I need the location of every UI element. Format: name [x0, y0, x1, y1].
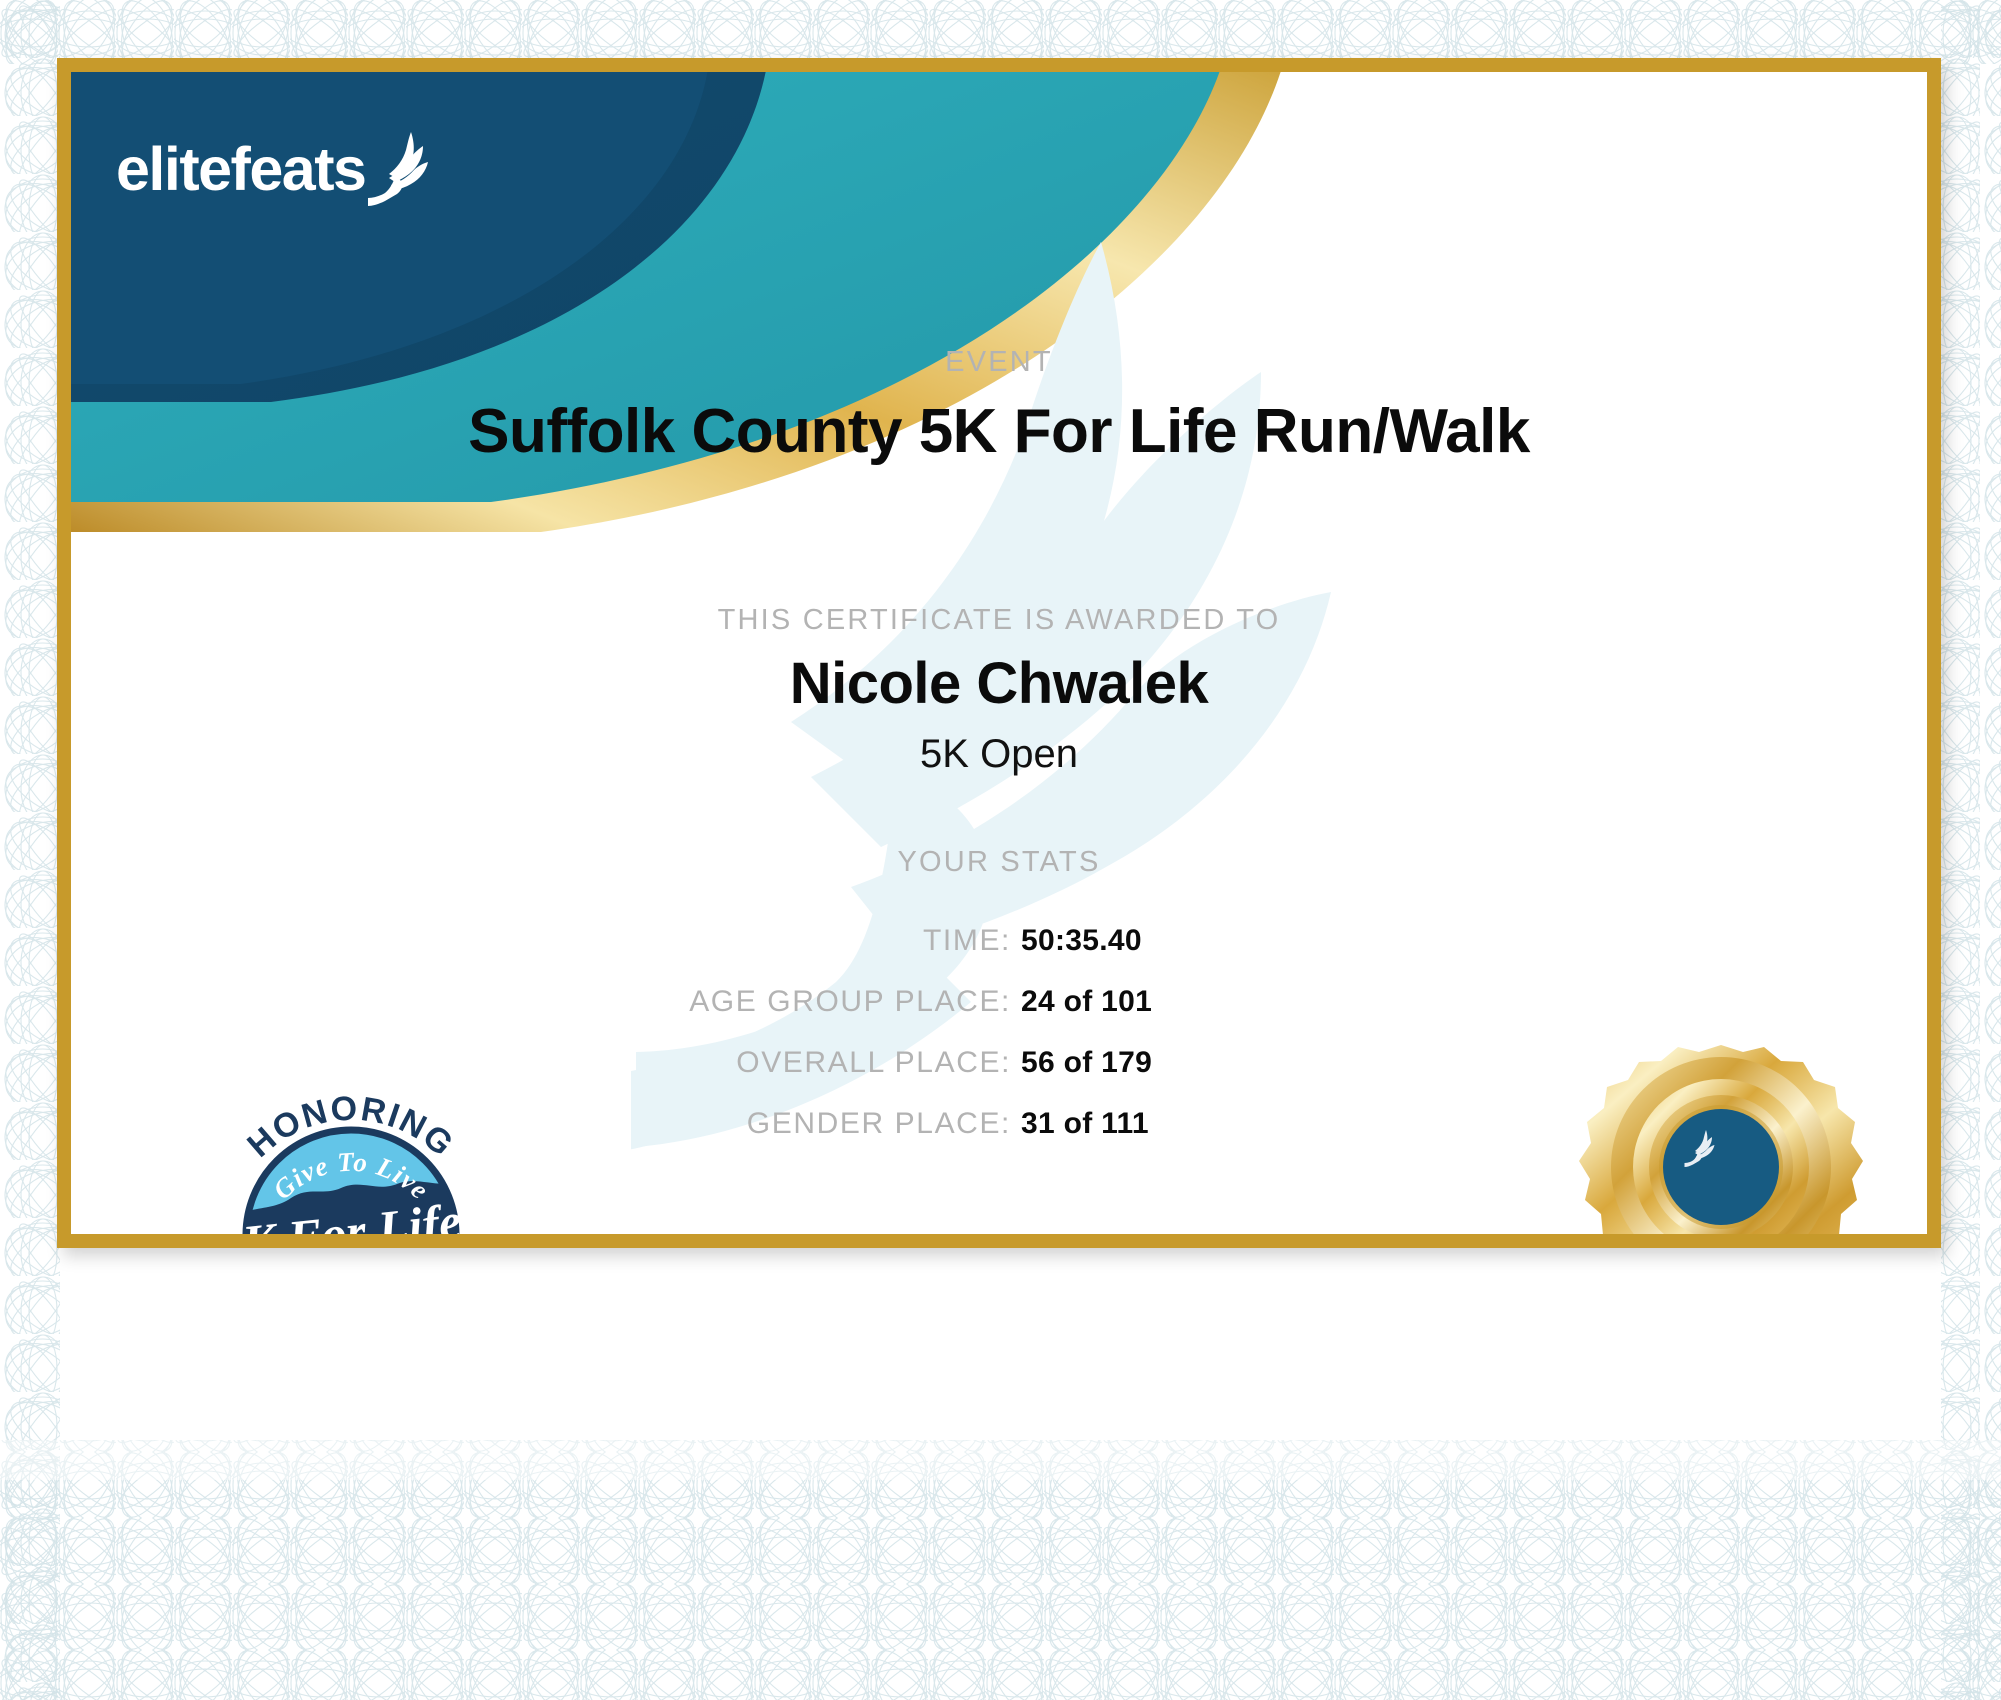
- medal-center-disc: [1663, 1109, 1779, 1225]
- stat-value: 24 of 101: [1021, 985, 1196, 1019]
- stat-value: 31 of 111: [1021, 1107, 1196, 1141]
- certificate-gold-frame: elitefeats: [57, 58, 1941, 1248]
- finisher-medal: 2025: [1556, 1037, 1886, 1234]
- stat-value: 50:35.40: [1021, 924, 1196, 958]
- stat-value: 56 of 179: [1021, 1046, 1196, 1080]
- event-logo: HONORING DONOR HEROES Give To Live: [191, 1072, 511, 1234]
- elitefeats-logo: elitefeats: [116, 130, 439, 208]
- stat-label: OVERALL PLACE:: [736, 1046, 1011, 1080]
- brand-wordmark: elitefeats: [116, 139, 365, 200]
- certificate-card: elitefeats: [71, 72, 1927, 1234]
- recipient-division: 5K Open: [71, 732, 1927, 777]
- medal-art: 2025: [1571, 1037, 1871, 1234]
- stat-label: GENDER PLACE:: [747, 1107, 1011, 1141]
- stat-row-time: TIME: 50:35.40: [71, 924, 1196, 958]
- awarded-to-label: THIS CERTIFICATE IS AWARDED TO: [71, 604, 1927, 637]
- winged-foot-icon: [365, 130, 439, 208]
- stat-label: AGE GROUP PLACE:: [689, 985, 1011, 1019]
- stat-row-age-group-place: AGE GROUP PLACE: 24 of 101: [71, 985, 1196, 1019]
- recipient-name: Nicole Chwalek: [71, 650, 1927, 717]
- stat-label: TIME:: [923, 924, 1011, 958]
- event-label: EVENT: [71, 346, 1927, 379]
- your-stats-label: YOUR STATS: [71, 846, 1927, 879]
- event-title: Suffolk County 5K For Life Run/Walk: [71, 396, 1927, 467]
- certificate-page: elitefeats: [0, 0, 2001, 1700]
